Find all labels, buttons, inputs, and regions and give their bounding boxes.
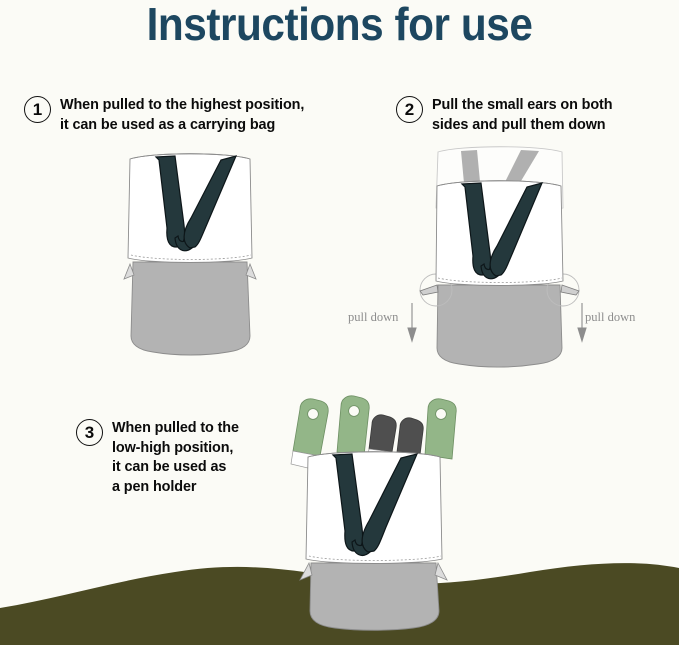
- pull-down-label-left: pull down: [348, 310, 398, 325]
- tool-5: [425, 399, 456, 459]
- tool-1-handle: [293, 399, 328, 456]
- step-1-text: When pulled to the highest position, it …: [60, 96, 304, 135]
- step-2: 2 Pull the small ears on both sides and …: [396, 96, 612, 135]
- tool-5-hole: [436, 409, 447, 420]
- tool-1-hole: [308, 409, 319, 420]
- bag3-ear-left: [300, 563, 312, 580]
- step-3: 3 When pulled to the low-high position, …: [76, 419, 239, 497]
- tool-3-head: [369, 415, 396, 452]
- step-1-number: 1: [24, 96, 51, 123]
- step-2-number: 2: [396, 96, 423, 123]
- step-3-number: 3: [76, 419, 103, 446]
- tool-2-hole: [349, 406, 360, 417]
- step-2-text: Pull the small ears on both sides and pu…: [432, 96, 612, 135]
- bag3: [291, 396, 456, 630]
- tool-4-head: [397, 418, 423, 455]
- tool-2-handle: [337, 396, 369, 456]
- tool-5-handle: [425, 399, 456, 459]
- bag3-base: [310, 563, 439, 630]
- tool-2: [337, 396, 369, 456]
- pull-down-label-right: pull down: [585, 310, 635, 325]
- step-1: 1 When pulled to the highest position, i…: [24, 96, 304, 135]
- step-3-text: When pulled to the low-high position, it…: [112, 419, 239, 497]
